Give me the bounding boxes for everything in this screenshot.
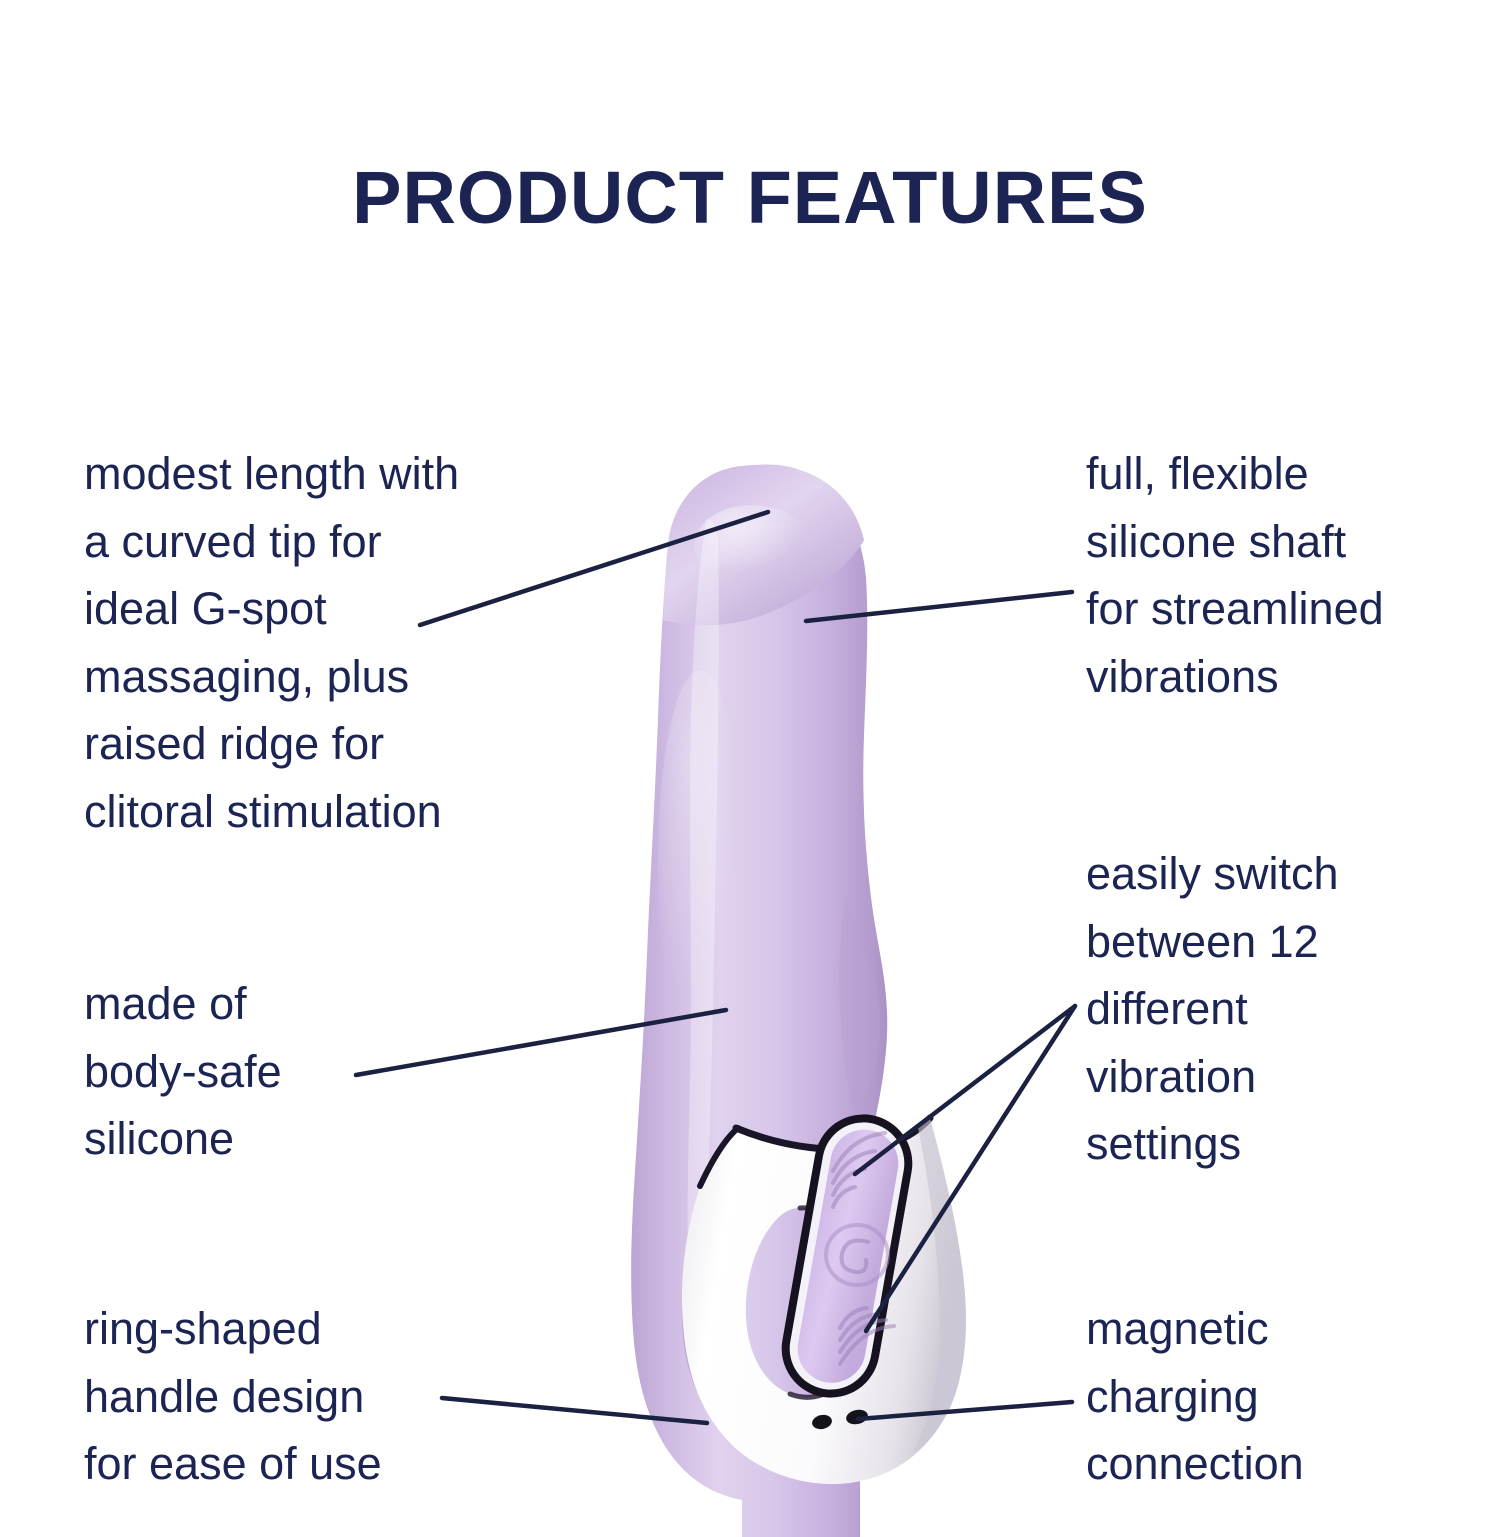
callout-flexible-shaft: full, flexible silicone shaft for stream…: [1086, 440, 1486, 710]
callout-body-safe-silicone: made of body-safe silicone: [84, 970, 484, 1173]
callout-vibration-settings: easily switch between 12 different vibra…: [1086, 840, 1426, 1178]
callout-magnetic-charging: magnetic charging connection: [1086, 1295, 1446, 1498]
infographic-root: PRODUCT FEATURES: [0, 0, 1500, 1537]
callout-ring-handle: ring-shaped handle design for ease of us…: [84, 1295, 514, 1498]
callout-curved-tip: modest length with a curved tip for idea…: [84, 440, 564, 845]
